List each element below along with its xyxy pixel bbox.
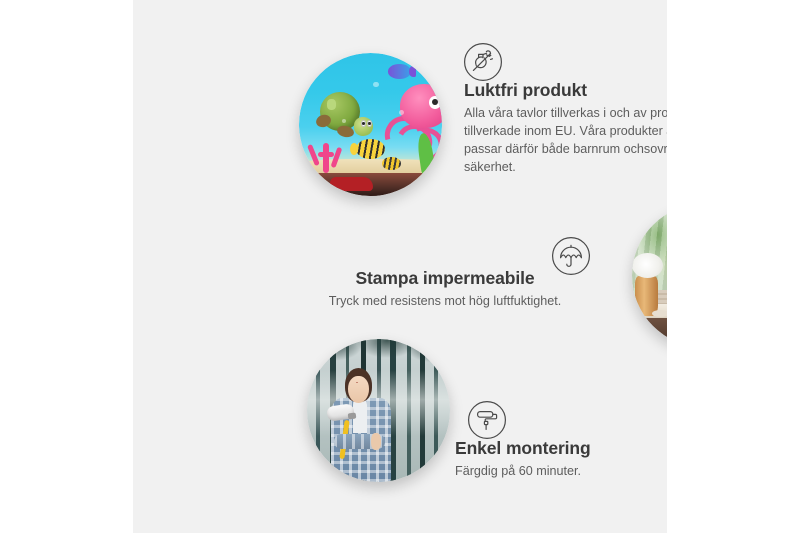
feature-description: Tryck med resistens mot hög luftfuktighe… [301, 293, 589, 311]
woman-figure [324, 368, 404, 482]
coral-illustration [305, 130, 348, 173]
bubble [373, 82, 379, 88]
yellow-fish-illustration [356, 139, 385, 159]
feature-text-odorless: Luktfri produkt Alla våra tavlor tillver… [464, 80, 667, 177]
bathroom-leaf-wallpaper-photo [632, 204, 667, 347]
feature-text-waterproof: Stampa impermeabile Tryck med resistens … [301, 268, 589, 311]
underwater-cartoon-scene-photo [299, 53, 442, 196]
vase [635, 276, 658, 316]
octopus-illustration [382, 84, 442, 150]
sea-foreground-rock [299, 173, 442, 196]
soap-dish [652, 310, 667, 317]
feature-text-easy-mounting: Enkel montering Färgdig på 60 minuter. [455, 438, 667, 481]
feature-description: Alla våra tavlor tillverkas i och av pro… [464, 105, 667, 177]
paint-roller-icon [467, 400, 507, 440]
feature-title: Luktfri produkt [464, 80, 667, 101]
infographic-page: Luktfri produkt Alla våra tavlor tillver… [0, 0, 800, 533]
feature-title: Stampa impermeabile [301, 268, 589, 289]
sea-background [299, 53, 442, 196]
forest-mural [307, 339, 450, 482]
no-odor-spray-icon [463, 42, 503, 82]
feature-description: Färgdig på 60 minuter. [455, 463, 667, 481]
wooden-vanity-cabinet [646, 318, 667, 347]
bathroom-scene [632, 204, 667, 347]
small-fish-illustration [382, 157, 401, 170]
content-panel: Luktfri produkt Alla våra tavlor tillver… [133, 0, 667, 533]
woman-paint-roller-forest-mural-photo [307, 339, 450, 482]
blue-fish-illustration [388, 64, 411, 78]
feature-title: Enkel montering [455, 438, 667, 459]
